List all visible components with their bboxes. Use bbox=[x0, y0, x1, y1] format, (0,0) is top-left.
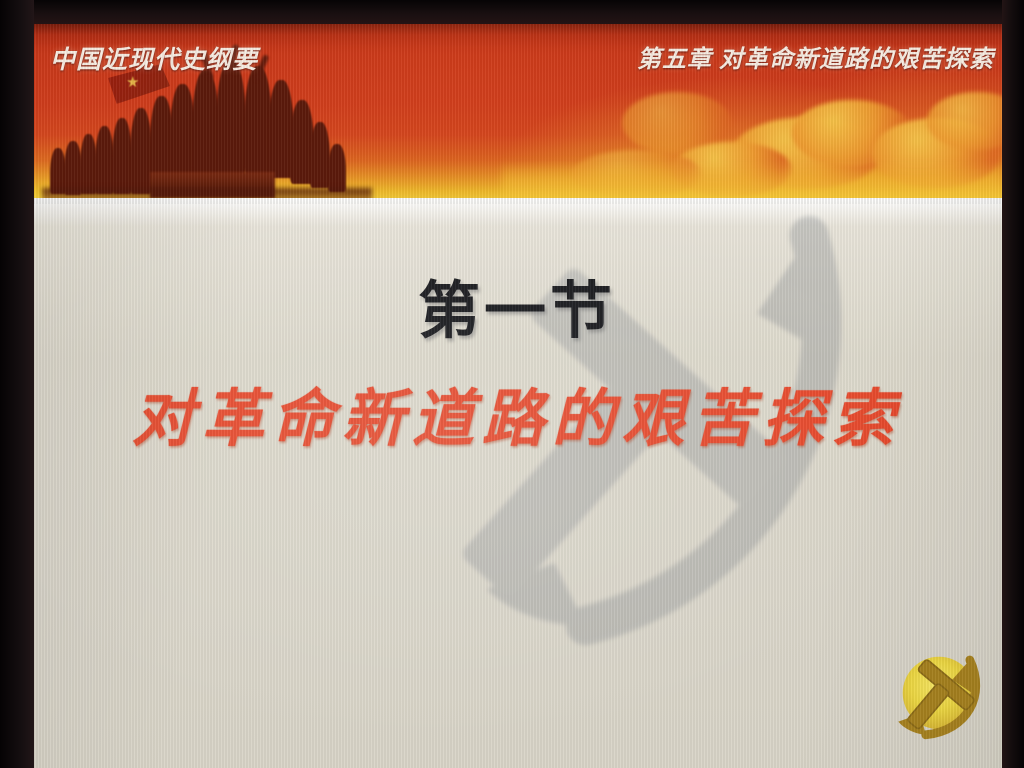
section-title: 对革命新道路的艰苦探索 bbox=[32, 368, 1002, 458]
projected-slide-photo: 中国近现代史纲要 第五章 对革命新道路的艰苦探索 第一节 bbox=[0, 0, 1024, 768]
slide-header-banner: 中国近现代史纲要 第五章 对革命新道路的艰苦探索 bbox=[32, 22, 1002, 204]
projector-bezel-top bbox=[0, 0, 1024, 24]
chapter-title: 第五章 对革命新道路的艰苦探索 bbox=[637, 39, 994, 74]
course-title: 中国近现代史纲要 bbox=[50, 40, 258, 76]
presentation-slide: 中国近现代史纲要 第五章 对革命新道路的艰苦探索 第一节 bbox=[32, 22, 1002, 768]
communist-party-emblem bbox=[884, 638, 994, 748]
section-label: 第一节 bbox=[32, 260, 1002, 350]
projector-bezel-right bbox=[1002, 0, 1024, 768]
projector-bezel-left bbox=[0, 0, 34, 768]
slide-body: 第一节 对革命新道路的艰苦探索 bbox=[32, 198, 1002, 768]
